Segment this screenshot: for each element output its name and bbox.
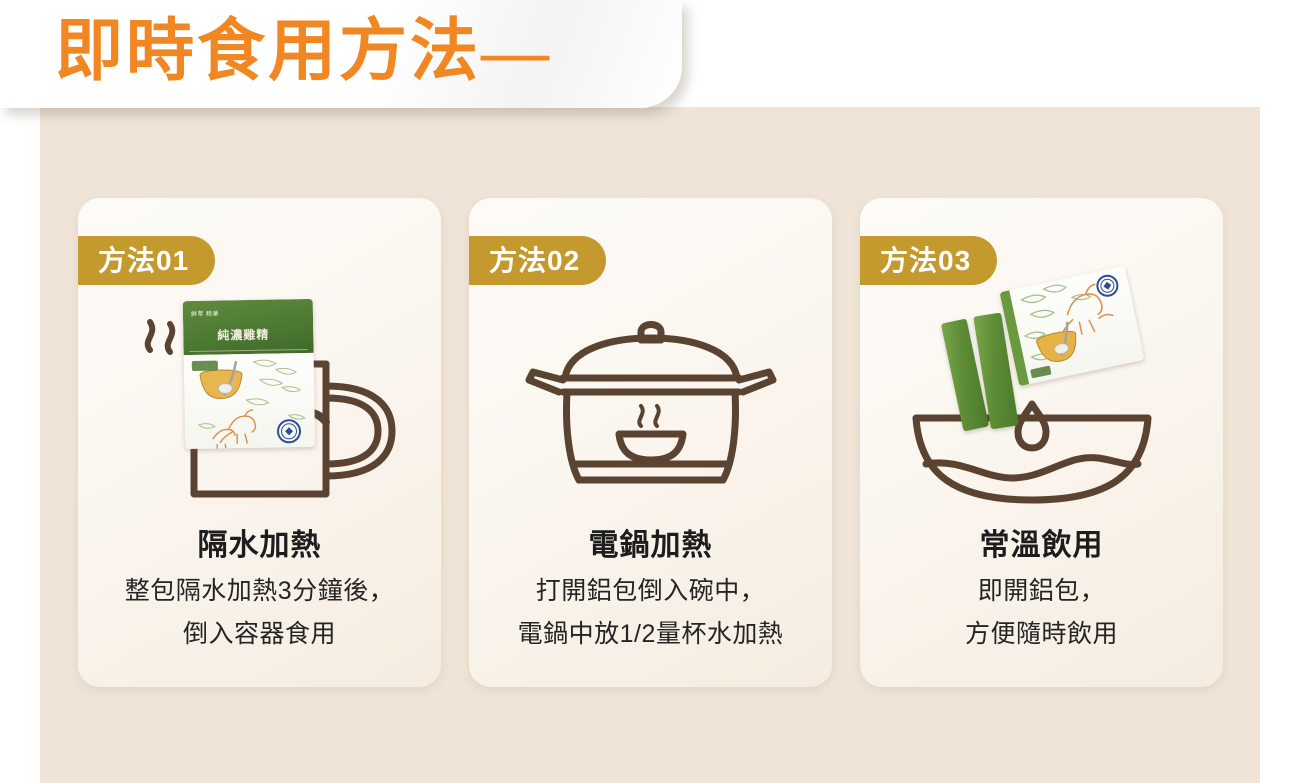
method-cards-row: 方法01	[78, 198, 1225, 687]
product-pouch-image: 鮮萃 精華 純濃雞精	[183, 299, 316, 449]
header-banner: 即時食用方法—	[0, 0, 682, 108]
page-title: 即時食用方法—	[55, 7, 552, 95]
badge-method-01: 方法01	[78, 236, 215, 285]
pouch-brand-text: 鮮萃 精華	[191, 309, 219, 318]
method-card-3[interactable]: 方法03	[860, 198, 1223, 687]
illustration-rice-cooker-icon	[469, 294, 832, 510]
pouch-product-text: 純濃雞精	[217, 326, 269, 344]
method-card-2[interactable]: 方法02	[469, 198, 832, 687]
badge-method-02: 方法02	[469, 236, 606, 285]
page-root: 即時食用方法— 方法01	[0, 0, 1300, 783]
method-card-1[interactable]: 方法01	[78, 198, 441, 687]
badge-method-03: 方法03	[860, 236, 997, 285]
